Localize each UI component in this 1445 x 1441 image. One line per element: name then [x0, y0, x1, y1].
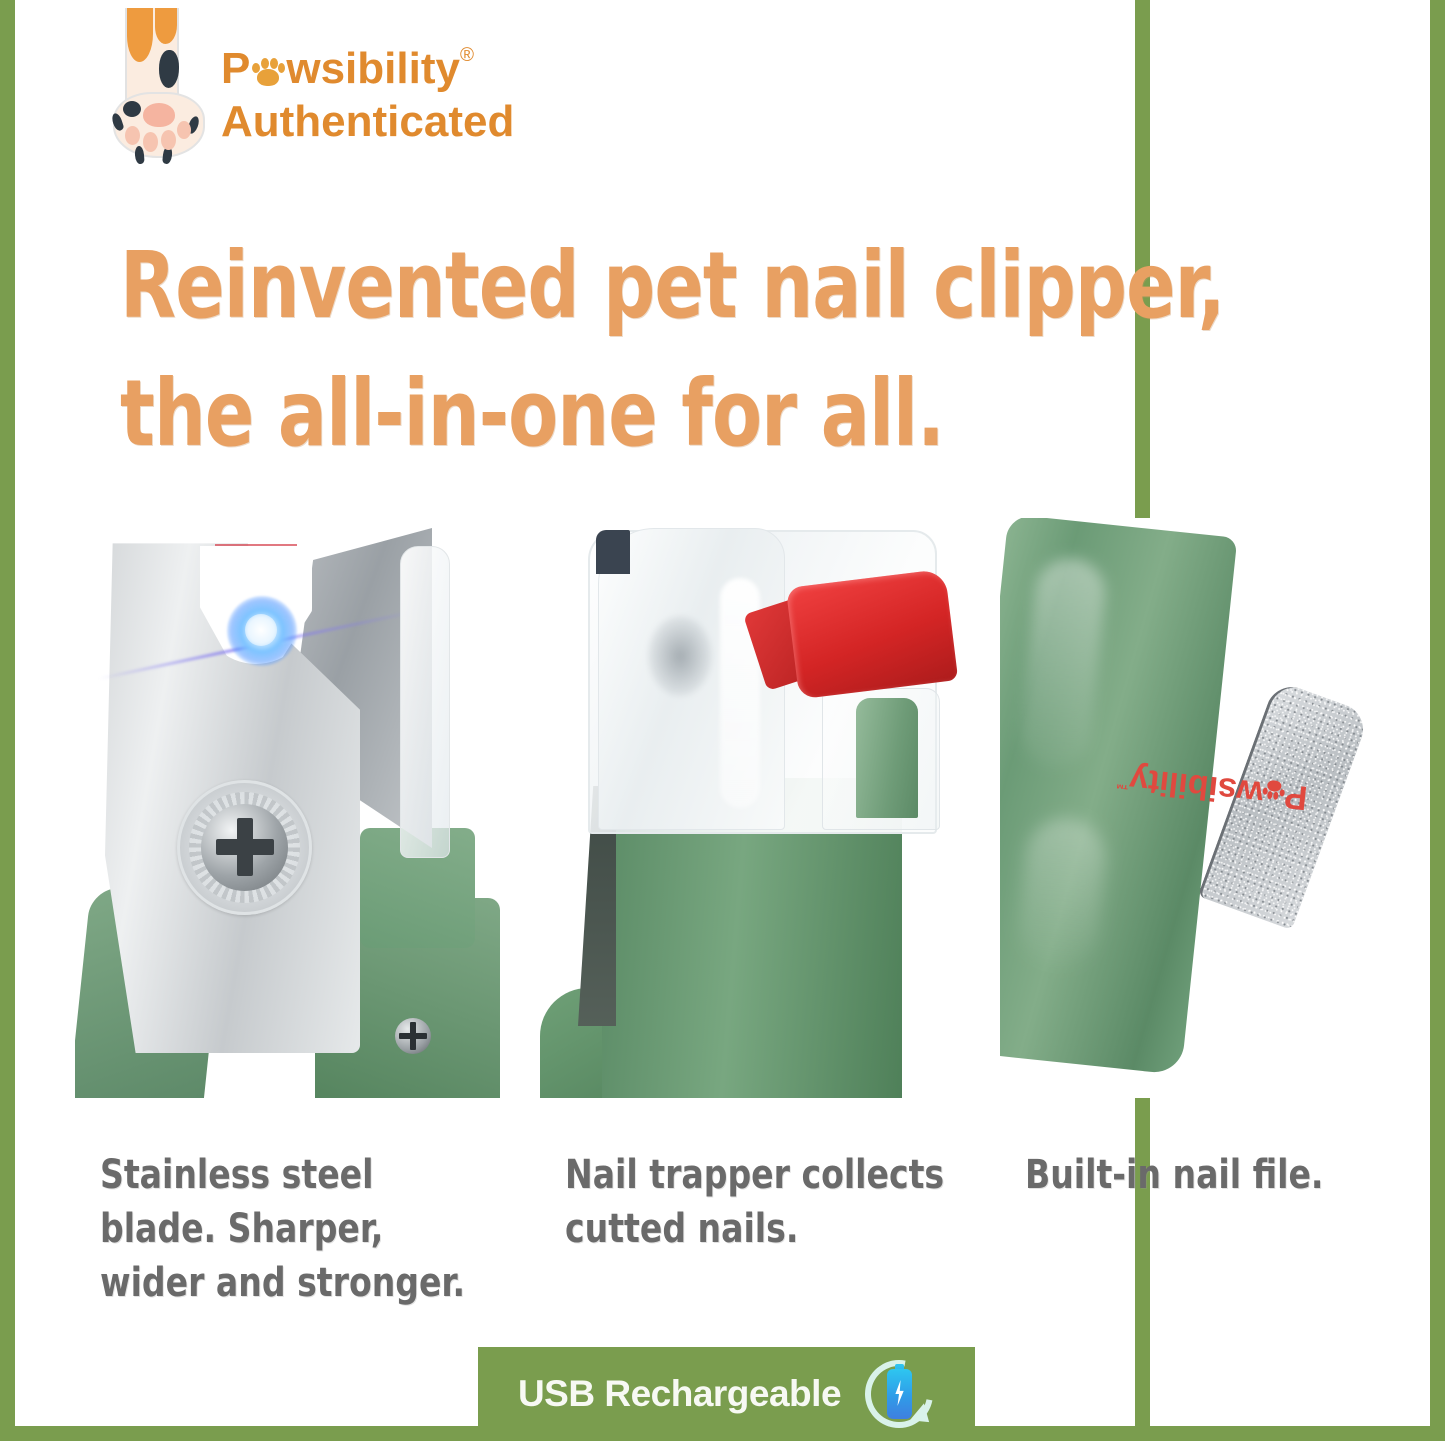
trademark-symbol: ™ [1115, 776, 1129, 792]
paw-toe-bean [161, 130, 176, 150]
caption-nail-file: Built-in nail file. [1025, 1148, 1411, 1202]
stainless-steel-blade-photo [75, 518, 505, 1098]
pivot-screw-slot [216, 839, 274, 855]
brand-logo-text: P wsibility® Authenticated [221, 30, 571, 149]
brand-name-suffix: wsibility [286, 43, 460, 95]
product-brand-prefix: P [1283, 777, 1310, 817]
usb-rechargeable-banner: USB Rechargeable [478, 1347, 975, 1441]
usb-rechargeable-label: USB Rechargeable [518, 1373, 841, 1415]
registered-trademark-symbol: ® [460, 45, 474, 66]
product-infographic-page: P wsibility® Authenticated Reinvented pe… [0, 0, 1445, 1441]
paw-print-icon [1262, 779, 1286, 800]
nail-trapper-photo [540, 518, 970, 1098]
frame-left-border [0, 0, 15, 1441]
paw-pad-dark [123, 101, 141, 117]
brand-logo: P wsibility® Authenticated [103, 8, 573, 178]
green-plunger [856, 698, 918, 818]
red-release-lever [786, 569, 958, 700]
nail-file-photo: P wsibility™ [1000, 518, 1405, 1098]
paw-print-icon [251, 57, 285, 87]
paw-pad-main [143, 103, 175, 127]
caption-nail-trapper: Nail trapper collects cutted nails. [565, 1148, 961, 1256]
paw-toe-bean [125, 126, 140, 145]
chamber-shadow [648, 616, 712, 696]
paw-toe-bean [143, 132, 158, 152]
caption-stainless-steel-blade: Stainless steel blade. Sharper, wider an… [100, 1148, 496, 1310]
battery-charging-icon [863, 1358, 935, 1430]
feature-photo-row: P wsibility™ [75, 518, 1405, 1098]
clear-safety-guard [400, 546, 450, 858]
headline-line-2: the all-in-one for all. [120, 350, 1158, 478]
led-light-core [245, 614, 277, 646]
page-headline: Reinvented pet nail clipper, the all-in-… [120, 222, 1158, 478]
chamber-top-cap [596, 530, 630, 574]
brand-name: P wsibility® [221, 30, 571, 95]
feature-caption-row: Stainless steel blade. Sharper, wider an… [100, 1148, 1400, 1328]
cat-paw-illustration [103, 8, 213, 173]
frame-right-border [1430, 0, 1445, 1441]
headline-line-1: Reinvented pet nail clipper, [120, 222, 1158, 350]
brand-name-prefix: P [221, 43, 250, 95]
handle-screw-slot [399, 1033, 427, 1039]
brand-subtitle: Authenticated [221, 95, 571, 149]
paw-toe-bean [177, 121, 191, 139]
